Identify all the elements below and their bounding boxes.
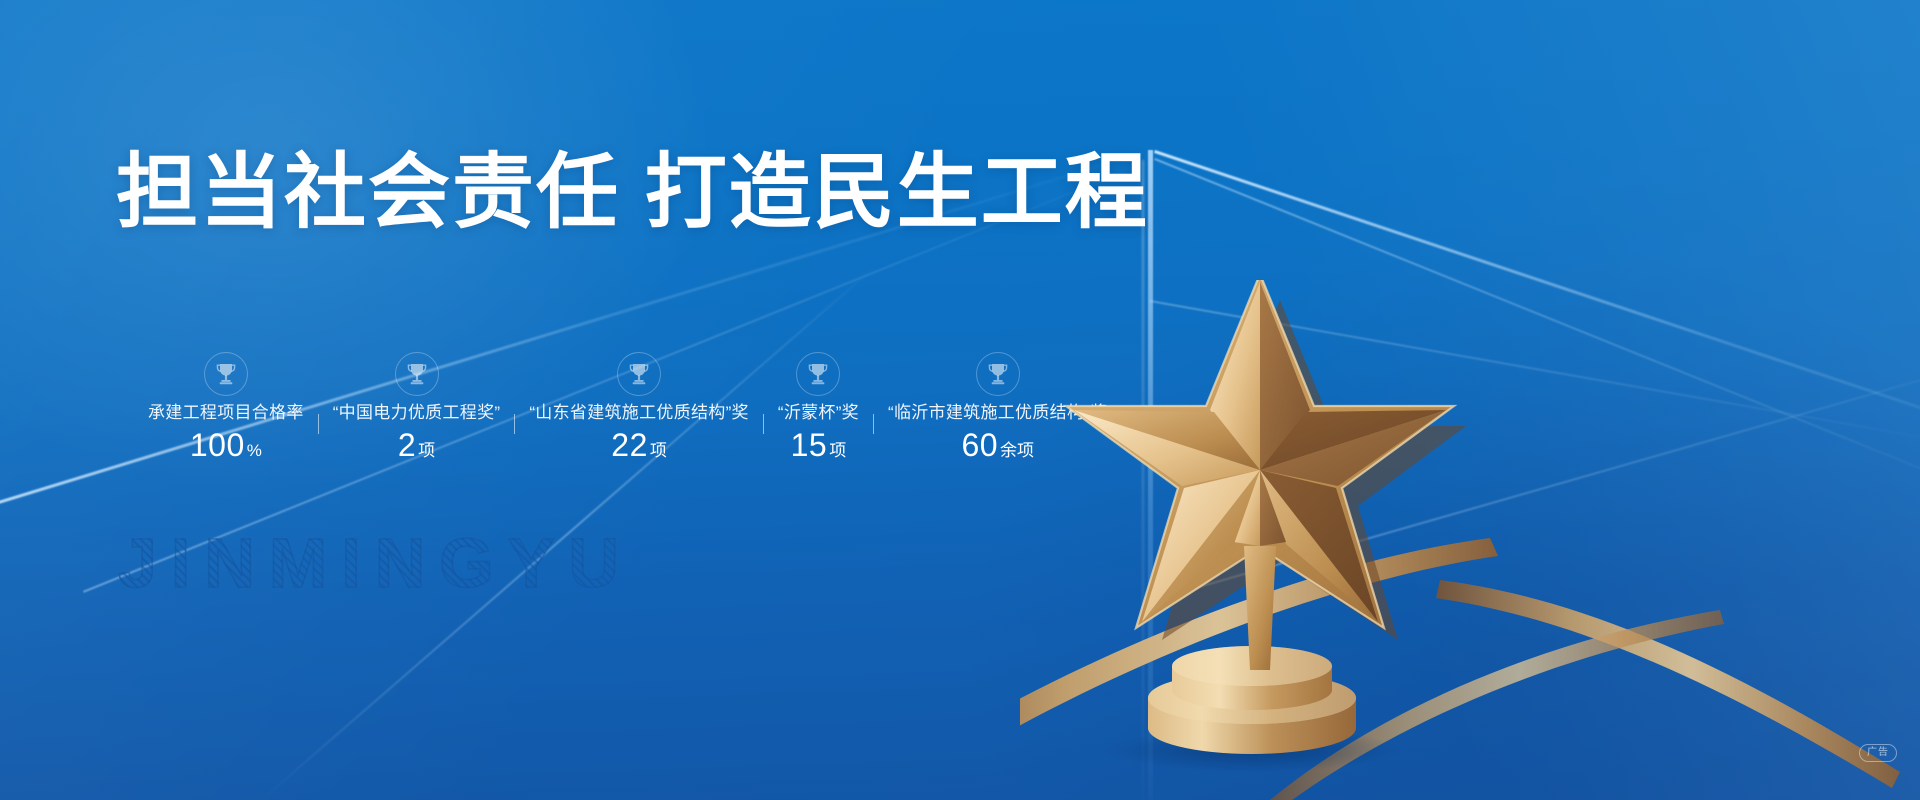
stat-value: 15 项 <box>791 427 847 464</box>
trophy-icon <box>395 352 439 396</box>
awards-stats-row: 承建工程项目合格率 100 % “中国电力优质工程奖” 2 <box>134 352 1122 464</box>
stat-number: 15 <box>791 427 828 464</box>
stat-unit: 余项 <box>1000 441 1034 461</box>
trophy-icon <box>796 352 840 396</box>
stat-item: 承建工程项目合格率 100 % <box>134 352 318 464</box>
ad-badge: 广告 <box>1859 744 1897 762</box>
stat-number: 2 <box>398 427 416 464</box>
background-face-right <box>1150 0 1920 800</box>
stat-label: “沂蒙杯”奖 <box>778 402 859 423</box>
stat-unit: 项 <box>829 441 846 461</box>
background-crease-highlight <box>1142 160 1144 800</box>
stat-number: 22 <box>611 427 648 464</box>
stat-unit: 项 <box>418 441 435 461</box>
brand-watermark: JINMINGYU <box>118 523 633 603</box>
page-title: 担当社会责任 打造民生工程 <box>116 152 1149 234</box>
stat-unit: % <box>247 441 262 461</box>
stat-item: “临沂市建筑施工优质结构”奖 60 余项 <box>874 352 1122 464</box>
stat-value: 22 项 <box>611 427 667 464</box>
gold-star-trophy-image <box>1020 280 1920 800</box>
stat-item: “沂蒙杯”奖 15 项 <box>764 352 873 464</box>
stat-number: 100 <box>190 427 245 464</box>
stat-item: “中国电力优质工程奖” 2 项 <box>319 352 515 464</box>
trophy-icon <box>976 352 1020 396</box>
stat-value: 100 % <box>190 427 262 464</box>
stat-unit: 项 <box>650 441 667 461</box>
background-crease <box>1148 150 1153 800</box>
promo-banner: JINMINGYU 担当社会责任 打造民生工程 承建工程项目合格率 100 % <box>0 0 1920 800</box>
stat-value: 2 项 <box>398 427 435 464</box>
light-ray-upper-right <box>1154 150 1920 470</box>
trophy-icon <box>204 352 248 396</box>
stat-label: “中国电力优质工程奖” <box>333 402 501 423</box>
stat-number: 60 <box>961 427 998 464</box>
trophy-icon <box>617 352 661 396</box>
stat-label: “临沂市建筑施工优质结构”奖 <box>888 402 1108 423</box>
stat-item: “山东省建筑施工优质结构”奖 22 项 <box>515 352 763 464</box>
stat-value: 60 余项 <box>961 427 1034 464</box>
light-ray-lower-right <box>1150 352 1920 602</box>
light-ray-middle-right <box>1150 300 1920 444</box>
bottom-right-shade <box>970 250 1920 800</box>
light-ray-upper-right-secondary <box>1154 158 1920 497</box>
stat-label: 承建工程项目合格率 <box>148 402 304 423</box>
stat-label: “山东省建筑施工优质结构”奖 <box>529 402 749 423</box>
